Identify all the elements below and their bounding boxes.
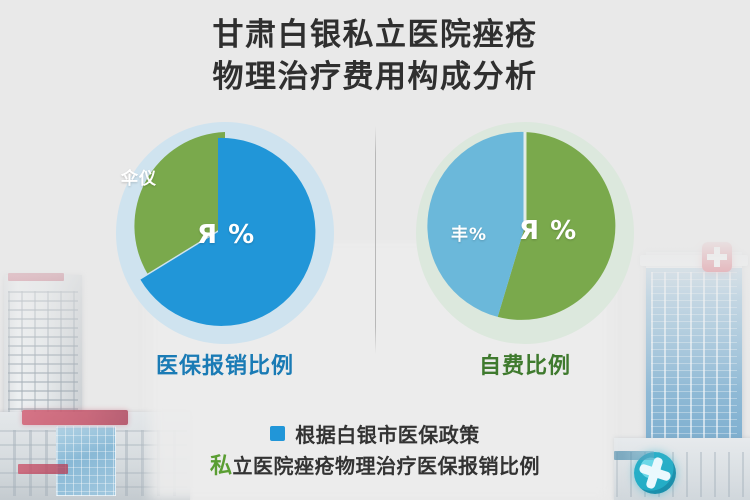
legend: 根据白银市医保政策 私 立医院痤疮物理治疗医保报销比例	[0, 418, 750, 480]
pie-caption-left: 医保报销比例	[75, 348, 375, 380]
legend-row-2: 私 立医院痤疮物理治疗医保报销比例	[0, 448, 750, 480]
pie-slice-label-blue-left: Я %	[197, 220, 255, 250]
infographic-canvas: 甘肃白银私立医院痤疮 物理治疗费用构成分析 伞仪 Я % 医保报销比例	[0, 0, 750, 500]
page-title: 甘肃白银私立医院痤疮 物理治疗费用构成分析	[0, 14, 750, 98]
legend-row-1: 根据白银市医保政策	[0, 418, 750, 448]
title-line-1: 甘肃白银私立医院痤疮	[0, 14, 750, 56]
title-line-2: 物理治疗费用构成分析	[0, 56, 750, 98]
legend-accent-character: 私	[210, 448, 233, 480]
pie-chart-self-pay: 丰% Я % 自费比例	[375, 112, 675, 392]
pie-seam-right	[524, 132, 527, 226]
legend-swatch-blue-icon	[270, 426, 285, 441]
pie-caption-right: 自费比例	[375, 348, 675, 380]
legend-label-policy: 根据白银市医保政策	[295, 419, 480, 448]
pie-slice-label-green-left: 伞仪	[121, 164, 157, 189]
pie-slice-label-blue-right: 丰%	[451, 220, 487, 245]
pie-slice-label-green-right: Я %	[519, 216, 577, 246]
pie-chart-medical-insurance: 伞仪 Я % 医保报销比例	[75, 112, 375, 392]
charts-row: 伞仪 Я % 医保报销比例 丰% Я % 自费比例	[0, 112, 750, 392]
legend-label-reimbursement: 立医院痤疮物理治疗医保报销比例	[233, 450, 541, 479]
